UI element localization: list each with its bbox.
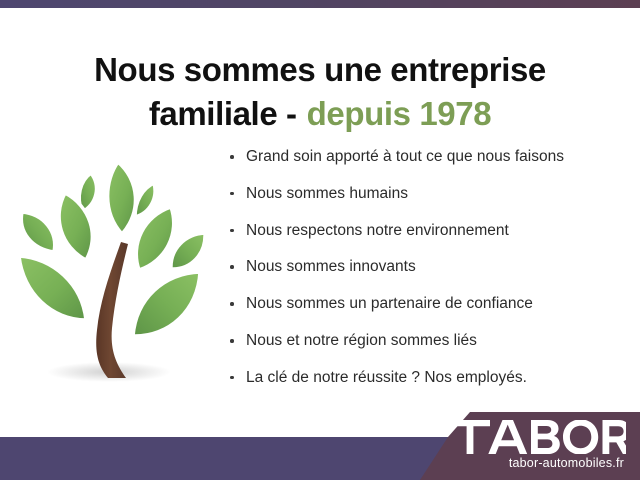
list-item-label: Nous et notre région sommes liés [246, 332, 477, 349]
list-item-label: Nous sommes un partenaire de confiance [246, 295, 533, 312]
bullet-dot-icon [230, 265, 234, 269]
bullet-dot-icon [230, 339, 234, 343]
brand-logo[interactable]: tabor-automobiles.fr [426, 420, 626, 470]
list-item: Nous sommes innovants [228, 258, 628, 276]
bullet-dot-icon [230, 192, 234, 196]
value-bullet-list: Grand soin apporté à tout ce que nous fa… [228, 148, 628, 387]
headline-line-2: familiale -depuis 1978 [24, 92, 616, 136]
tree-trunk [96, 242, 128, 378]
headline-line-2-main: familiale - [149, 95, 297, 132]
page-title: Nous sommes une entreprise familiale -de… [0, 48, 640, 135]
list-item-label: Grand soin apporté à tout ce que nous fa… [246, 148, 564, 165]
bullet-dot-icon [230, 229, 234, 233]
tree-illustration [8, 150, 220, 392]
list-item: Grand soin apporté à tout ce que nous fa… [228, 148, 628, 166]
bullet-dot-icon [230, 155, 234, 159]
headline-accent: depuis 1978 [307, 95, 492, 132]
list-item-label: Nous sommes humains [246, 185, 408, 202]
tabor-wordmark-icon [450, 420, 626, 454]
list-item-label: La clé de notre réussite ? Nos employés. [246, 369, 527, 386]
footer-banner: tabor-automobiles.fr [0, 400, 640, 480]
list-item: Nous sommes humains [228, 185, 628, 203]
footer-bar-left [0, 437, 448, 480]
slide-canvas: Nous sommes une entreprise familiale -de… [0, 0, 640, 480]
bullet-dot-icon [230, 302, 234, 306]
top-accent-stripe [0, 0, 640, 8]
brand-url[interactable]: tabor-automobiles.fr [426, 456, 626, 470]
list-item: La clé de notre réussite ? Nos employés. [228, 369, 628, 387]
list-item-label: Nous respectons notre environnement [246, 222, 509, 239]
list-item: Nous sommes un partenaire de confiance [228, 295, 628, 313]
headline-line-1: Nous sommes une entreprise [94, 51, 546, 88]
list-item: Nous respectons notre environnement [228, 222, 628, 240]
bullet-dot-icon [230, 376, 234, 380]
list-item-label: Nous sommes innovants [246, 258, 416, 275]
list-item: Nous et notre région sommes liés [228, 332, 628, 350]
